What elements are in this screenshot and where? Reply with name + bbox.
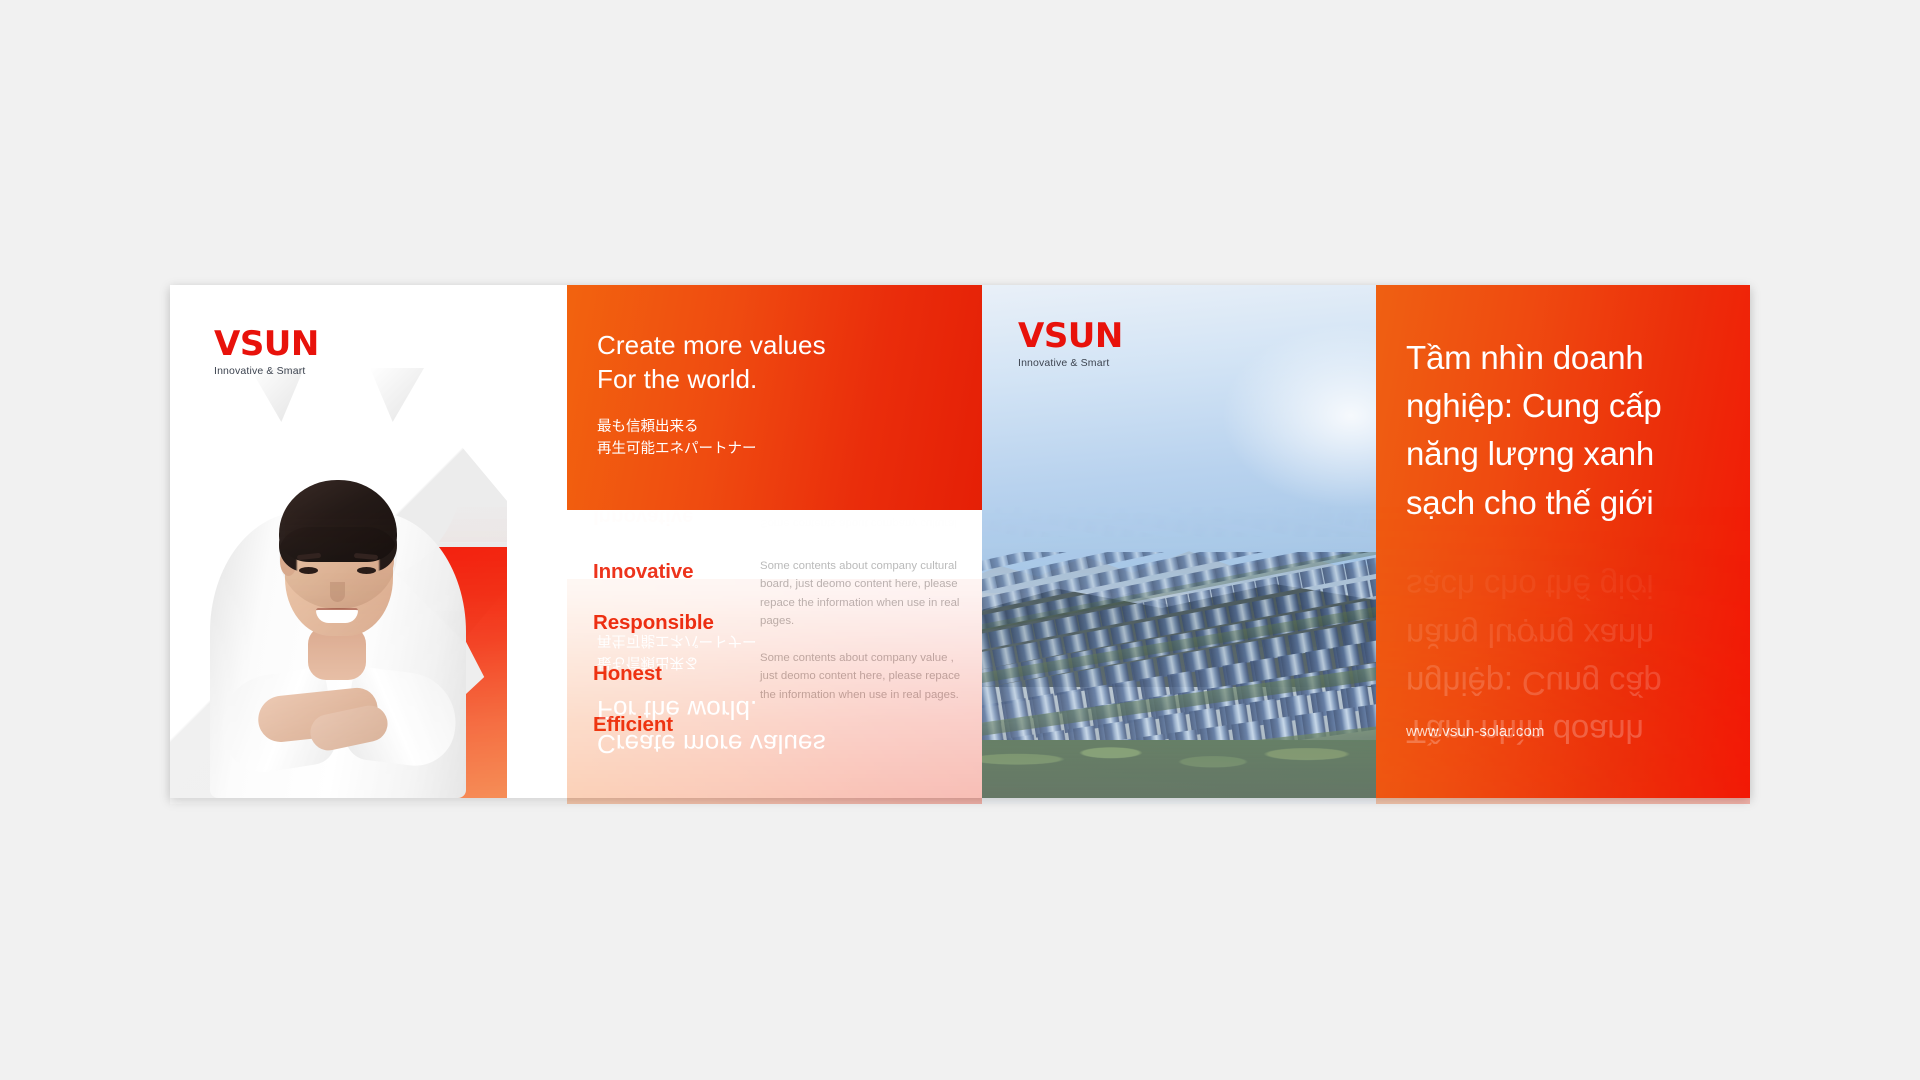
slogan-block: Create more values For the world. 最も信頼出来… [567, 285, 982, 510]
slogan-headline-line1: Create more values [597, 329, 952, 363]
values-paragraph: Some contents about company value , just… [760, 649, 962, 704]
values-block: Innovative Responsible Honest Efficient … [567, 510, 982, 798]
page-background: VSUN Innovative & Smart Create more valu… [0, 0, 1920, 1080]
photo-foreground-vegetation [982, 740, 1376, 798]
value-item: Efficient [593, 713, 748, 737]
portrait-businessman [192, 368, 482, 798]
cover-white-edge [507, 285, 567, 798]
brochure-spread: VSUN Innovative & Smart Create more valu… [170, 285, 1750, 798]
panel-slogan-values: Create more values For the world. 最も信頼出来… [567, 285, 982, 798]
panel-vision: Tầm nhìn doanh nghiệp: Cung cấp năng lượ… [1376, 285, 1750, 798]
vsun-wordmark: VSUN [214, 327, 319, 361]
vision-title: Tầm nhìn doanh nghiệp: Cung cấp năng lượ… [1406, 334, 1720, 527]
value-item: Honest [593, 662, 748, 686]
values-description: Some contents about company cultural boa… [760, 548, 962, 798]
photo-sun-glow [1211, 316, 1376, 516]
vsun-tagline: Innovative & Smart [1018, 358, 1123, 369]
slogan-headline: Create more values For the world. [597, 329, 952, 397]
portrait-smile [316, 608, 358, 623]
slogan-japanese-line1: 最も信頼出来る [597, 416, 952, 438]
slogan-headline-line2: For the world. [597, 363, 952, 397]
slogan-japanese-line2: 再生可能エネパートナー [597, 438, 952, 460]
reflection-fade-overlay [170, 804, 1750, 1080]
values-paragraph: Some contents about company cultural boa… [760, 557, 962, 631]
values-list: Innovative Responsible Honest Efficient [593, 548, 748, 798]
slogan-japanese: 最も信頼出来る 再生可能エネパートナー [597, 416, 952, 461]
panel-solar-photo: VSUN Innovative & Smart [982, 285, 1376, 798]
portrait-eye-left [299, 567, 318, 574]
vsun-logo-cover: VSUN Innovative & Smart [214, 327, 319, 377]
portrait-hair [279, 480, 397, 562]
value-item: Innovative [593, 560, 748, 584]
portrait-eye-right [357, 567, 376, 574]
vsun-tagline: Innovative & Smart [214, 366, 319, 377]
panel-cover: VSUN Innovative & Smart [170, 285, 567, 798]
vsun-wordmark: VSUN [1018, 319, 1123, 353]
portrait-nose [330, 582, 345, 602]
value-item: Responsible [593, 611, 748, 635]
artwork-stage: VSUN Innovative & Smart Create more valu… [170, 285, 1750, 798]
vsun-logo-photo: VSUN Innovative & Smart [1018, 319, 1123, 369]
website-url: www.vsun-solar.com [1406, 723, 1545, 740]
portrait-collar-right [370, 368, 424, 422]
